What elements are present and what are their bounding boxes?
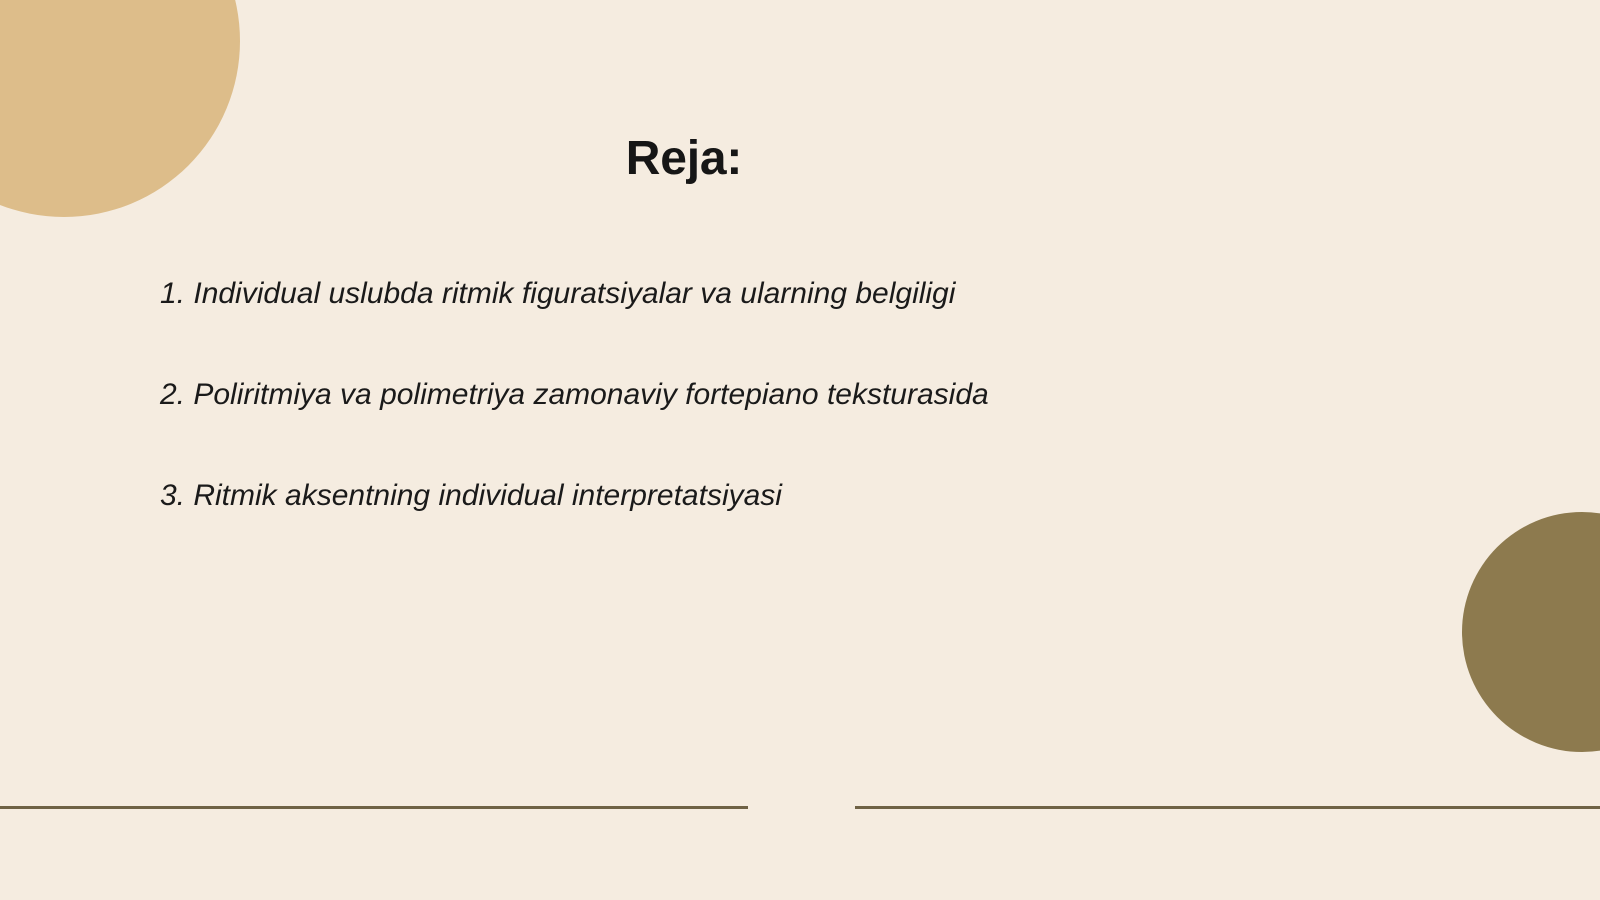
- slide-canvas: Reja: 1. Individual uslubda ritmik figur…: [0, 0, 1600, 900]
- divider-left: [0, 806, 748, 809]
- agenda-list: 1. Individual uslubda ritmik figuratsiya…: [160, 277, 1360, 512]
- decorative-circle-bottom-right: [1462, 512, 1600, 752]
- divider-right: [855, 806, 1600, 809]
- list-item: 2. Poliritmiya va polimetriya zamonaviy …: [160, 378, 1360, 411]
- list-item: 1. Individual uslubda ritmik figuratsiya…: [160, 277, 1360, 310]
- page-title: Reja:: [0, 131, 1368, 186]
- list-item: 3. Ritmik aksentning individual interpre…: [160, 479, 1360, 512]
